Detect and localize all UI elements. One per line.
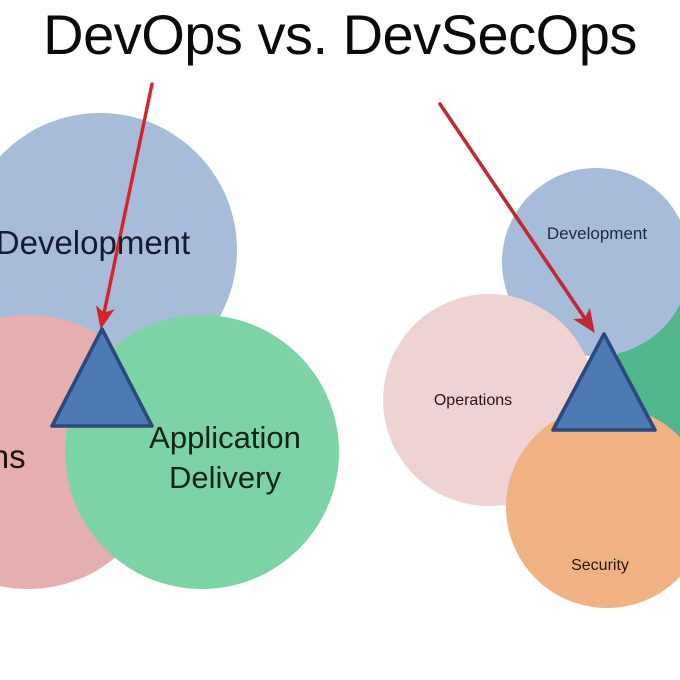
right-circles xyxy=(383,168,680,608)
venn-diagram-svg xyxy=(0,0,680,680)
left-venn-group xyxy=(0,84,344,594)
diagram-canvas: DevOps vs. DevSecOps Development ons App… xyxy=(0,0,680,680)
page-title: DevOps vs. DevSecOps xyxy=(0,6,680,65)
left-circles xyxy=(0,113,339,589)
right-venn-group xyxy=(378,104,680,613)
